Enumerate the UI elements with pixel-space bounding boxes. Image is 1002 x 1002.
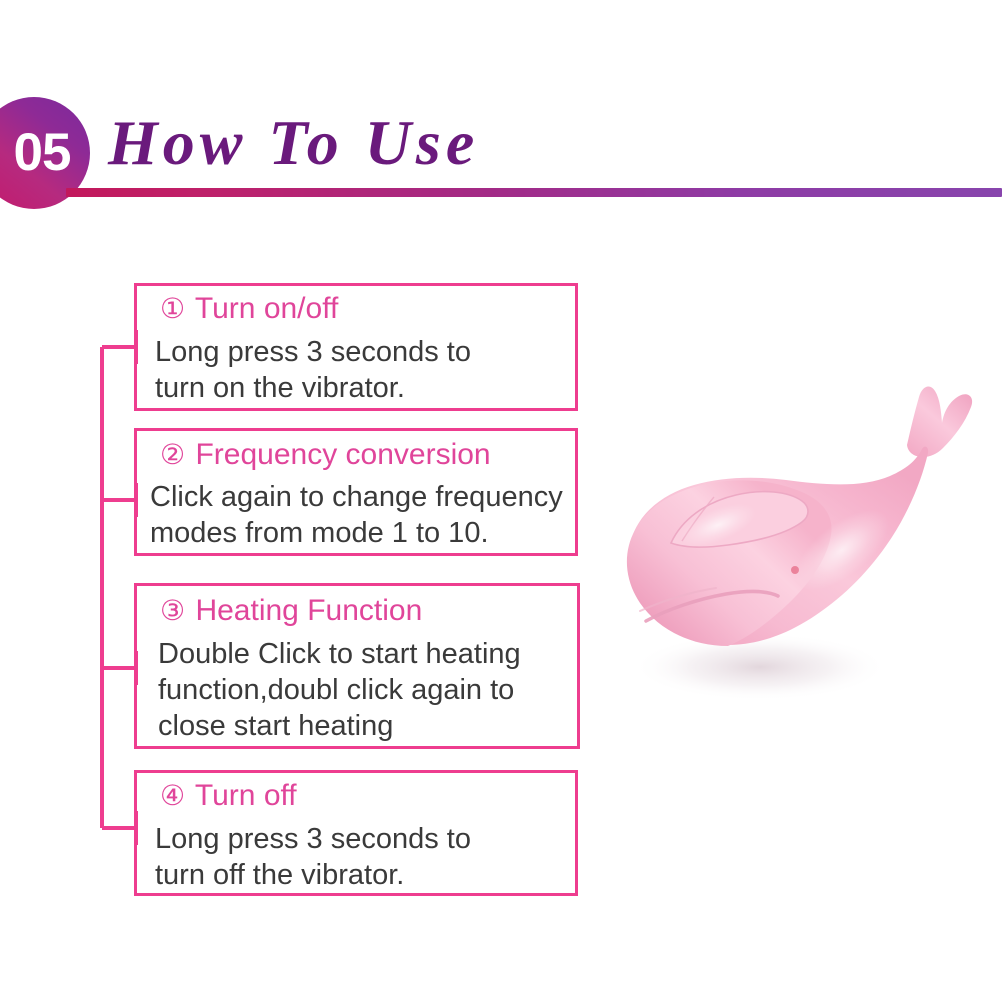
- page-header: 05 How To Use: [0, 0, 1002, 230]
- step-title-2: ② Frequency conversion: [160, 440, 491, 470]
- step-number-4: ④: [160, 780, 187, 811]
- step-title-label-3: Heating Function: [195, 594, 422, 627]
- whale-tail-fin: [907, 386, 972, 457]
- step-title-1: ① Turn on/off: [160, 294, 338, 324]
- product-photo-whale-vibrator: [610, 375, 1002, 775]
- step-body-1: Long press 3 seconds to turn on the vibr…: [155, 334, 471, 406]
- step-title-label-1: Turn on/off: [195, 292, 338, 325]
- step-number-3: ③: [160, 595, 187, 626]
- step-title-4: ④ Turn off: [160, 781, 297, 811]
- step-body-2: Click again to change frequency modes fr…: [150, 479, 563, 551]
- page-title: How To Use: [108, 111, 479, 175]
- step-number-1: ①: [160, 293, 187, 324]
- section-number-label: 05: [14, 126, 71, 179]
- step-body-3: Double Click to start heating function,d…: [158, 636, 521, 744]
- step-title-3: ③ Heating Function: [160, 596, 422, 626]
- step-number-2: ②: [160, 439, 187, 470]
- step-body-4: Long press 3 seconds to turn off the vib…: [155, 821, 471, 893]
- header-divider-bar: [66, 188, 1002, 197]
- product-shadow: [632, 633, 888, 701]
- step-title-label-4: Turn off: [195, 779, 297, 812]
- step-title-label-2: Frequency conversion: [195, 438, 490, 471]
